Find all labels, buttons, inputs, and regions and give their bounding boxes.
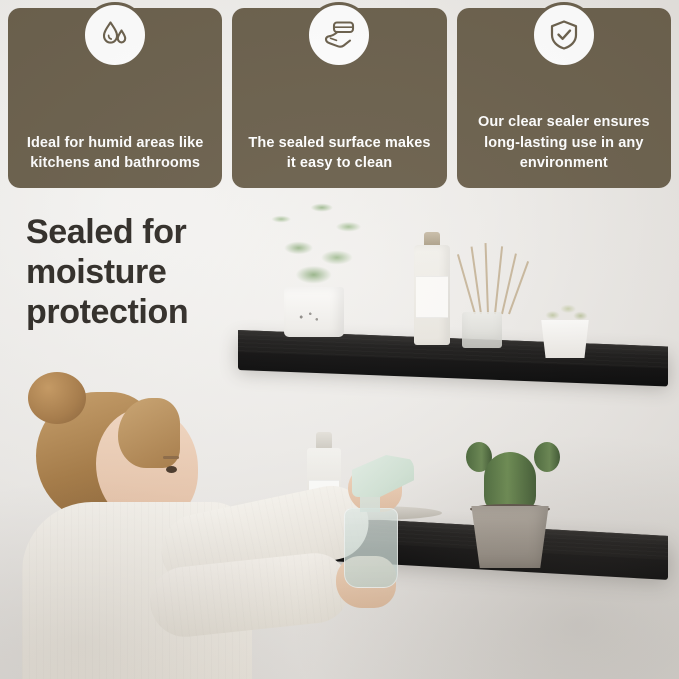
feature-card-clear-sealer: Our clear sealer ensures long-lasting us… (457, 8, 671, 188)
feature-card-easy-clean: The sealed surface makes it easy to clea… (232, 8, 446, 188)
feature-card-badge-3 (531, 2, 597, 68)
feature-card-text-1: Ideal for humid areas like kitchens and … (23, 133, 208, 174)
feature-card-text-3: Our clear sealer ensures long-lasting us… (471, 112, 656, 174)
feature-card-humid-areas: Ideal for humid areas like kitchens and … (8, 8, 222, 188)
water-droplets-icon (98, 18, 132, 52)
product-image: Sealed for moisture protection Ideal for… (0, 0, 679, 679)
shield-check-icon (548, 18, 580, 52)
feature-card-text-2: The sealed surface makes it easy to clea… (247, 133, 432, 174)
hand-wiping-sponge-icon (321, 18, 357, 52)
feature-card-badge-2 (306, 2, 372, 68)
feature-cards: Ideal for humid areas like kitchens and … (8, 8, 671, 188)
headline: Sealed for moisture protection (26, 212, 276, 332)
feature-card-badge-1 (82, 2, 148, 68)
